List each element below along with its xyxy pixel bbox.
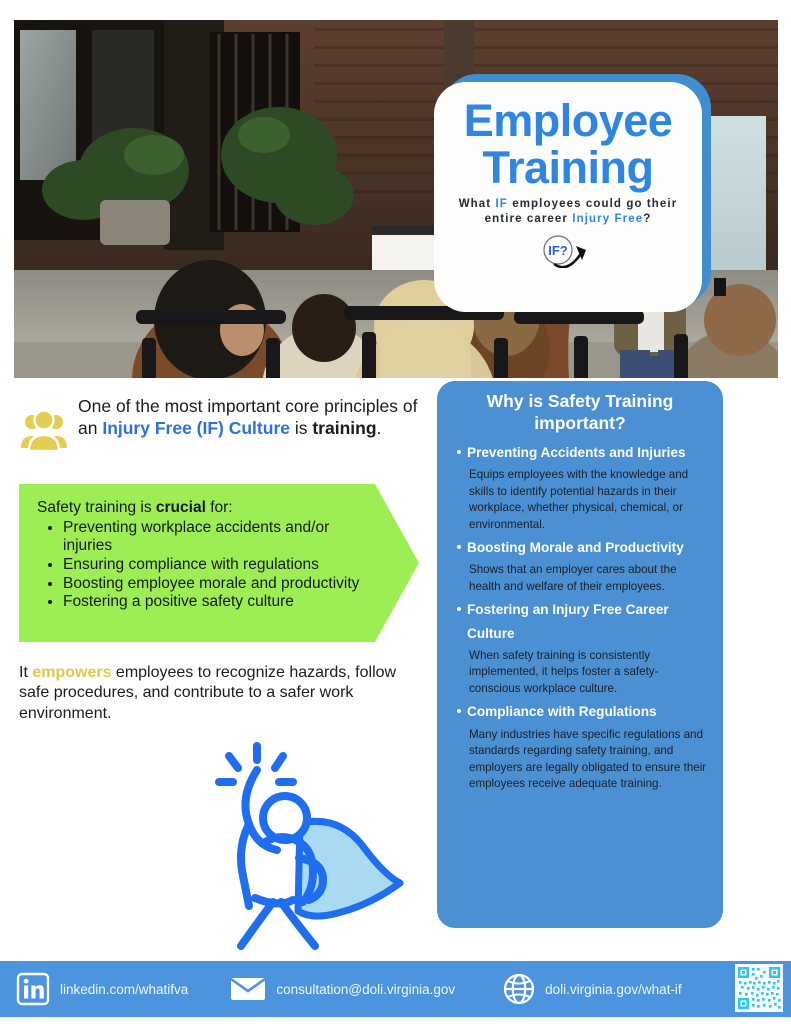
panel-bullet-row: • Fostering an Injury Free Career Cultur… <box>451 598 709 645</box>
infographic-page: Employee Training What IF employees coul… <box>0 0 791 1024</box>
panel-item: • Fostering an Injury Free Career Cultur… <box>451 598 709 697</box>
footer-linkedin[interactable]: linkedin.com/whatifva <box>16 961 188 1017</box>
linkedin-icon[interactable] <box>16 972 50 1006</box>
panel-item-heading: Fostering an Injury Free Career Culture <box>467 598 709 645</box>
green-callout: Safety training is crucial for: Preventi… <box>19 484 419 642</box>
intro-text-3: . <box>377 418 382 438</box>
green-heading-bold: crucial <box>156 499 206 516</box>
subtitle-injury-free: Injury Free <box>572 213 643 225</box>
email-label: consultation@doli.virginia.gov <box>276 982 455 997</box>
list-item: Boosting employee morale and productivit… <box>63 575 377 593</box>
list-item: Fostering a positive safety culture <box>63 593 377 611</box>
intro-highlight: Injury Free (IF) Culture <box>102 418 290 438</box>
why-safety-training-panel: Why is Safety Training important? • Prev… <box>437 381 723 928</box>
panel-bullet-row: • Preventing Accidents and Injuries <box>451 441 709 464</box>
panel-item-heading: Boosting Morale and Productivity <box>467 536 709 559</box>
intro-bold: training <box>312 418 376 438</box>
panel-item: • Boosting Morale and Productivity Shows… <box>451 536 709 595</box>
bullet-icon: • <box>451 441 467 464</box>
page-title-line2: Training <box>444 144 692 191</box>
bullet-icon: • <box>451 598 467 621</box>
panel-item-body: Shows that an employer cares about the h… <box>469 562 709 595</box>
panel-item-heading: Preventing Accidents and Injuries <box>467 441 709 464</box>
page-subtitle: What IF employees could go their entire … <box>444 197 692 227</box>
group-of-people-icon <box>18 408 70 456</box>
qr-code[interactable] <box>735 964 783 1012</box>
footer-website[interactable]: doli.virginia.gov/what-if <box>503 961 682 1017</box>
panel-item-body: Many industries have specific regulation… <box>469 727 709 793</box>
empowers-before: It <box>19 664 32 681</box>
footer-bar: linkedin.com/whatifva consultation@doli.… <box>0 961 791 1017</box>
panel-item: • Preventing Accidents and Injuries Equi… <box>451 441 709 533</box>
subtitle-before: What <box>459 198 496 210</box>
panel-title: Why is Safety Training important? <box>451 390 709 435</box>
title-card: Employee Training What IF employees coul… <box>434 82 702 312</box>
green-callout-content: Safety training is crucial for: Preventi… <box>37 499 377 612</box>
empowers-paragraph: It empowers employees to recognize hazar… <box>19 663 419 724</box>
envelope-icon[interactable] <box>230 976 266 1002</box>
subtitle-if: IF <box>496 198 508 210</box>
list-item: Ensuring compliance with regulations <box>63 556 377 574</box>
intro-paragraph: One of the most important core principle… <box>78 395 418 439</box>
superhero-figure-icon <box>195 738 410 950</box>
panel-bullet-row: • Boosting Morale and Productivity <box>451 536 709 559</box>
subtitle-after: ? <box>643 213 651 225</box>
list-item: Preventing workplace accidents and/or in… <box>63 519 377 555</box>
panel-item-body: Equips employees with the knowledge and … <box>469 467 709 533</box>
panel-item-heading: Compliance with Regulations <box>467 700 709 723</box>
globe-icon[interactable] <box>503 973 535 1005</box>
panel-item: • Compliance with Regulations Many indus… <box>451 700 709 792</box>
green-heading-after: for: <box>206 499 233 516</box>
linkedin-label: linkedin.com/whatifva <box>60 982 188 997</box>
panel-bullet-row: • Compliance with Regulations <box>451 700 709 723</box>
bullet-icon: • <box>451 700 467 723</box>
footer-email[interactable]: consultation@doli.virginia.gov <box>230 961 455 1017</box>
green-callout-list: Preventing workplace accidents and/or in… <box>63 519 377 612</box>
website-label: doli.virginia.gov/what-if <box>545 982 682 997</box>
green-heading-before: Safety training is <box>37 499 156 516</box>
panel-item-body: When safety training is consistently imp… <box>469 648 709 697</box>
bullet-icon: • <box>451 536 467 559</box>
page-title-line1: Employee <box>444 98 692 144</box>
empowers-highlight: empowers <box>32 664 111 681</box>
svg-text:IF?: IF? <box>548 243 568 258</box>
if-logo: IF? <box>444 234 692 268</box>
green-callout-heading: Safety training is crucial for: <box>37 499 377 518</box>
intro-text-2: is <box>290 418 312 438</box>
